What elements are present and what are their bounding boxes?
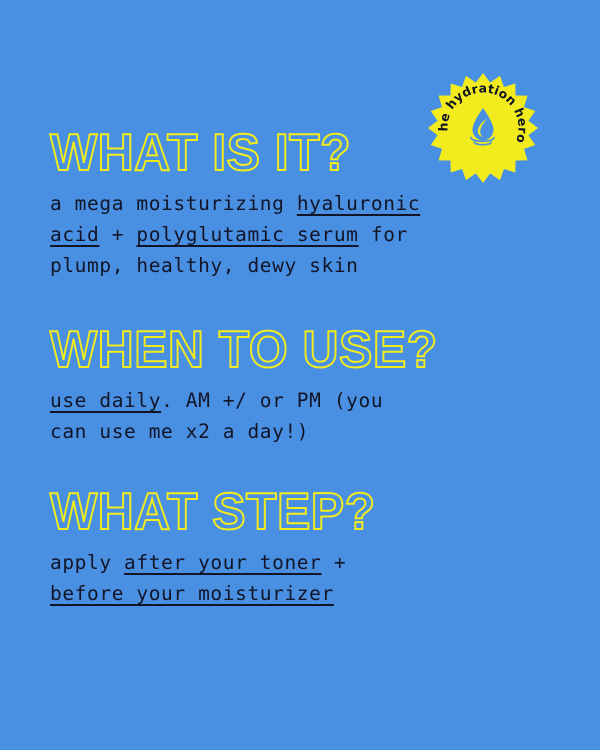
plain-phrase: plump, healthy, dewy skin xyxy=(50,254,359,277)
section-body: use daily. AM +/ or PM (you can use me x… xyxy=(50,385,570,447)
section-heading: WHAT STEP? xyxy=(50,484,549,540)
plain-phrase: + xyxy=(322,551,347,574)
section-what-step: WHAT STEP? apply after your toner + befo… xyxy=(50,484,570,609)
body-line: before your moisturizer xyxy=(50,578,570,609)
plain-phrase: + xyxy=(99,223,136,246)
body-line: acid + polyglutamic serum for xyxy=(50,219,570,250)
section-what-is-it: WHAT IS IT? a mega moisturizing hyaluron… xyxy=(50,125,570,281)
body-line: a mega moisturizing hyaluronic xyxy=(50,188,570,219)
underlined-phrase: use daily xyxy=(50,389,161,412)
section-heading: WHAT IS IT? xyxy=(50,125,549,181)
body-line: apply after your toner + xyxy=(50,547,570,578)
plain-phrase: for xyxy=(359,223,408,246)
underlined-phrase: after your toner xyxy=(124,551,321,574)
section-body: a mega moisturizing hyaluronic acid + po… xyxy=(50,188,570,281)
plain-phrase: a mega moisturizing xyxy=(50,192,297,215)
plain-phrase: apply xyxy=(50,551,124,574)
body-line: use daily. AM +/ or PM (you xyxy=(50,385,570,416)
section-body: apply after your toner + before your moi… xyxy=(50,547,570,609)
poster-canvas: the hydration hero WHAT IS IT? a mega mo… xyxy=(0,0,600,750)
section-when-to-use: WHEN TO USE? use daily. AM +/ or PM (you… xyxy=(50,322,570,447)
underlined-phrase: before your moisturizer xyxy=(50,582,334,605)
section-heading: WHEN TO USE? xyxy=(50,322,549,378)
underlined-phrase: hyaluronic xyxy=(297,192,420,215)
plain-phrase: can use me x2 a day!) xyxy=(50,420,309,443)
body-line: plump, healthy, dewy skin xyxy=(50,250,570,281)
plain-phrase: . AM +/ or PM (you xyxy=(161,389,383,412)
underlined-phrase: polyglutamic serum xyxy=(136,223,358,246)
underlined-phrase: acid xyxy=(50,223,99,246)
body-line: can use me x2 a day!) xyxy=(50,416,570,447)
